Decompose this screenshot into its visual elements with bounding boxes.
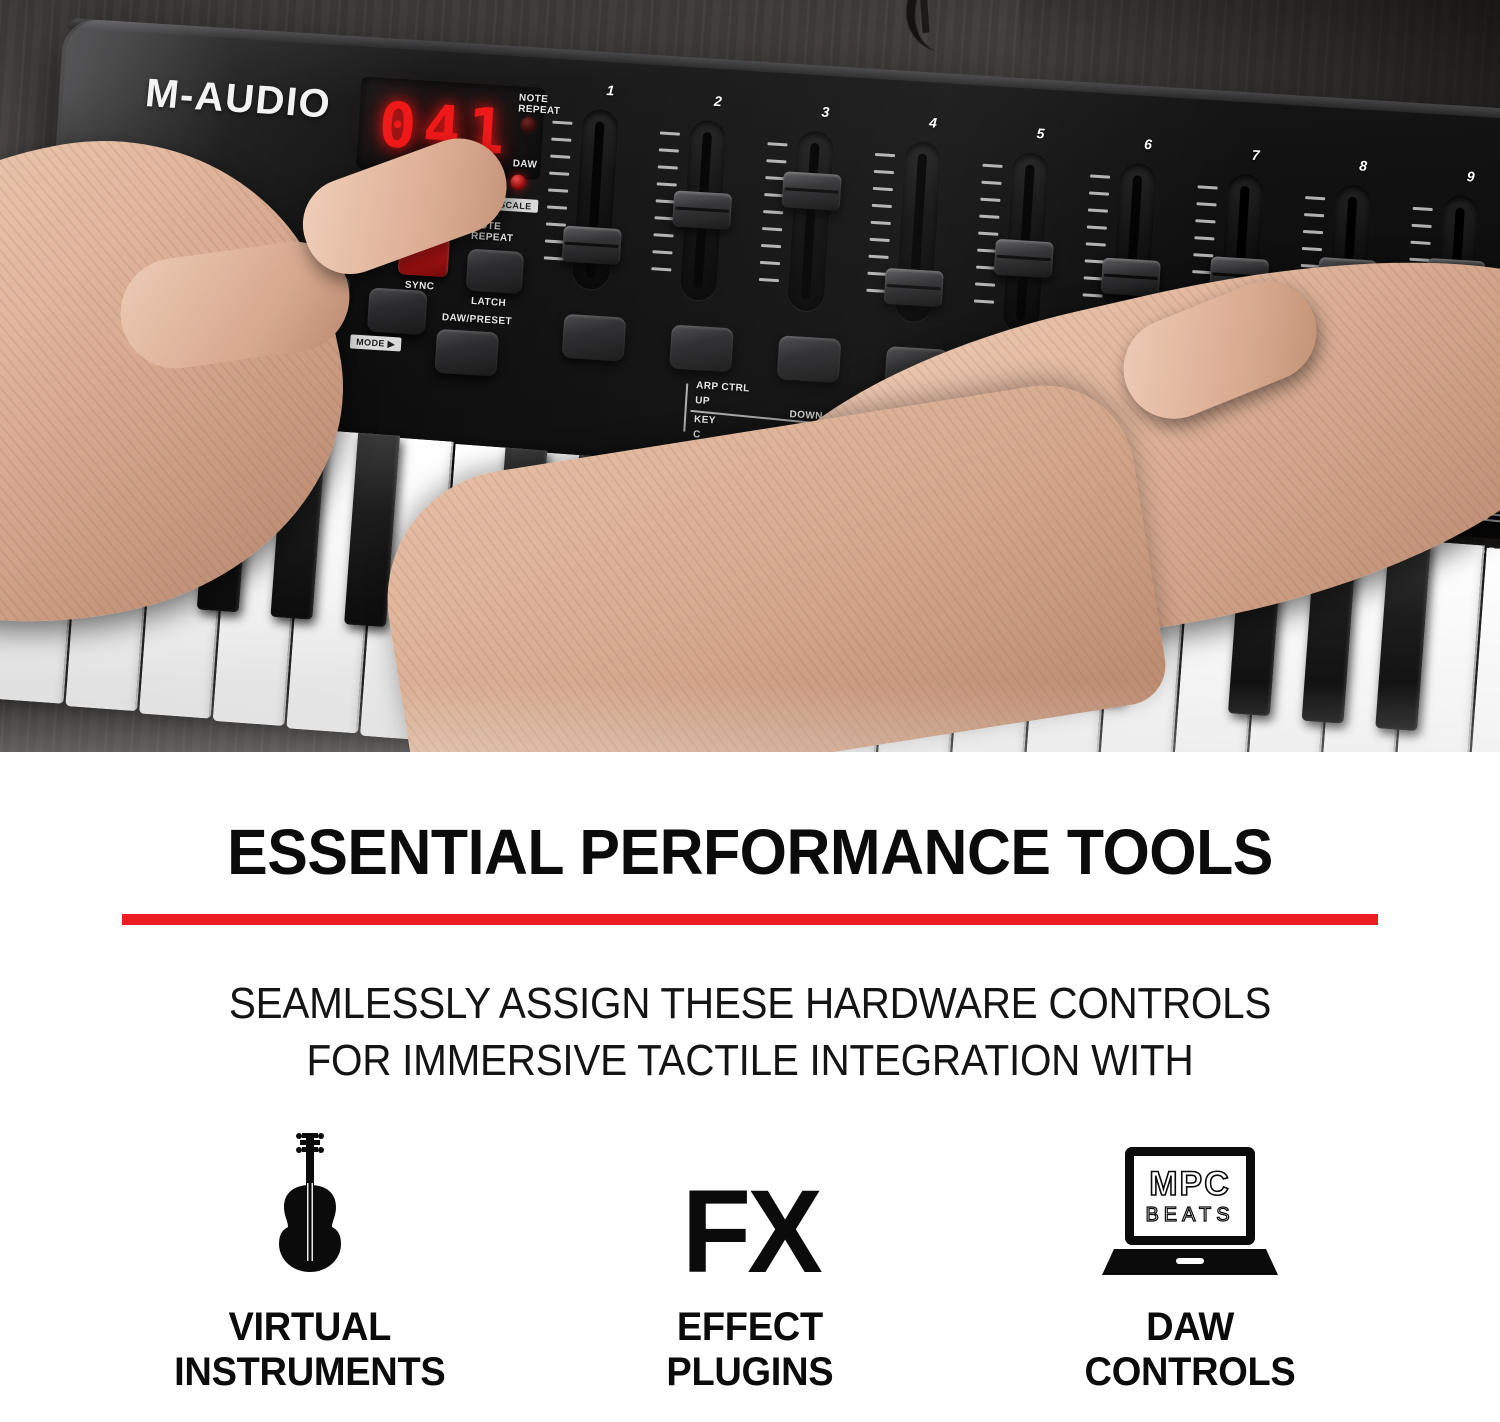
violin-icon bbox=[250, 1122, 370, 1287]
subtitle-line-1: SEAMLESSLY ASSIGN THESE HARDWARE CONTROL… bbox=[60, 975, 1440, 1032]
accent-divider bbox=[122, 914, 1378, 925]
product-photo: M-AUDIO 041 ARP CHORD SCALE NOTE REPEAT … bbox=[0, 0, 1500, 752]
laptop-screen-line-1: MPC bbox=[1149, 1165, 1231, 1203]
feature-virtual-instruments: VIRTUAL INSTRUMENTS bbox=[130, 1122, 490, 1395]
feature-label-line-2: PLUGINS bbox=[667, 1350, 834, 1395]
feature-label-virtual-instruments: VIRTUAL INSTRUMENTS bbox=[174, 1305, 445, 1395]
feature-effect-plugins: FX EFFECT PLUGINS bbox=[570, 1122, 930, 1395]
fx-icon-text: FX bbox=[681, 1178, 818, 1287]
feature-label-line-2: INSTRUMENTS bbox=[174, 1350, 445, 1395]
feature-label-line-1: EFFECT bbox=[667, 1305, 834, 1350]
page-title: ESSENTIAL PERFORMANCE TOOLS bbox=[38, 815, 1463, 889]
feature-label-line-1: DAW bbox=[1085, 1305, 1296, 1350]
fx-text-icon: FX bbox=[679, 1122, 822, 1287]
laptop-mpc-beats-icon: MPC BEATS bbox=[1092, 1122, 1288, 1287]
photo-bottom-fade bbox=[0, 682, 1500, 752]
info-panel: ESSENTIAL PERFORMANCE TOOLS SEAMLESSLY A… bbox=[0, 752, 1500, 1421]
feature-label-line-2: CONTROLS bbox=[1085, 1350, 1296, 1395]
feature-label-effect-plugins: EFFECT PLUGINS bbox=[667, 1305, 834, 1395]
usb-cable-segment bbox=[920, 0, 953, 33]
feature-list: VIRTUAL INSTRUMENTS FX EFFECT PLUGINS bbox=[0, 1122, 1500, 1422]
feature-daw-controls: MPC BEATS DAW CONTROLS bbox=[1010, 1122, 1370, 1395]
feature-label-line-1: VIRTUAL bbox=[174, 1305, 445, 1350]
feature-label-daw-controls: DAW CONTROLS bbox=[1085, 1305, 1296, 1395]
subtitle: SEAMLESSLY ASSIGN THESE HARDWARE CONTROL… bbox=[60, 975, 1440, 1089]
subtitle-line-2: FOR IMMERSIVE TACTILE INTEGRATION WITH bbox=[60, 1032, 1440, 1089]
laptop-screen-line-2: BEATS bbox=[1145, 1204, 1234, 1226]
